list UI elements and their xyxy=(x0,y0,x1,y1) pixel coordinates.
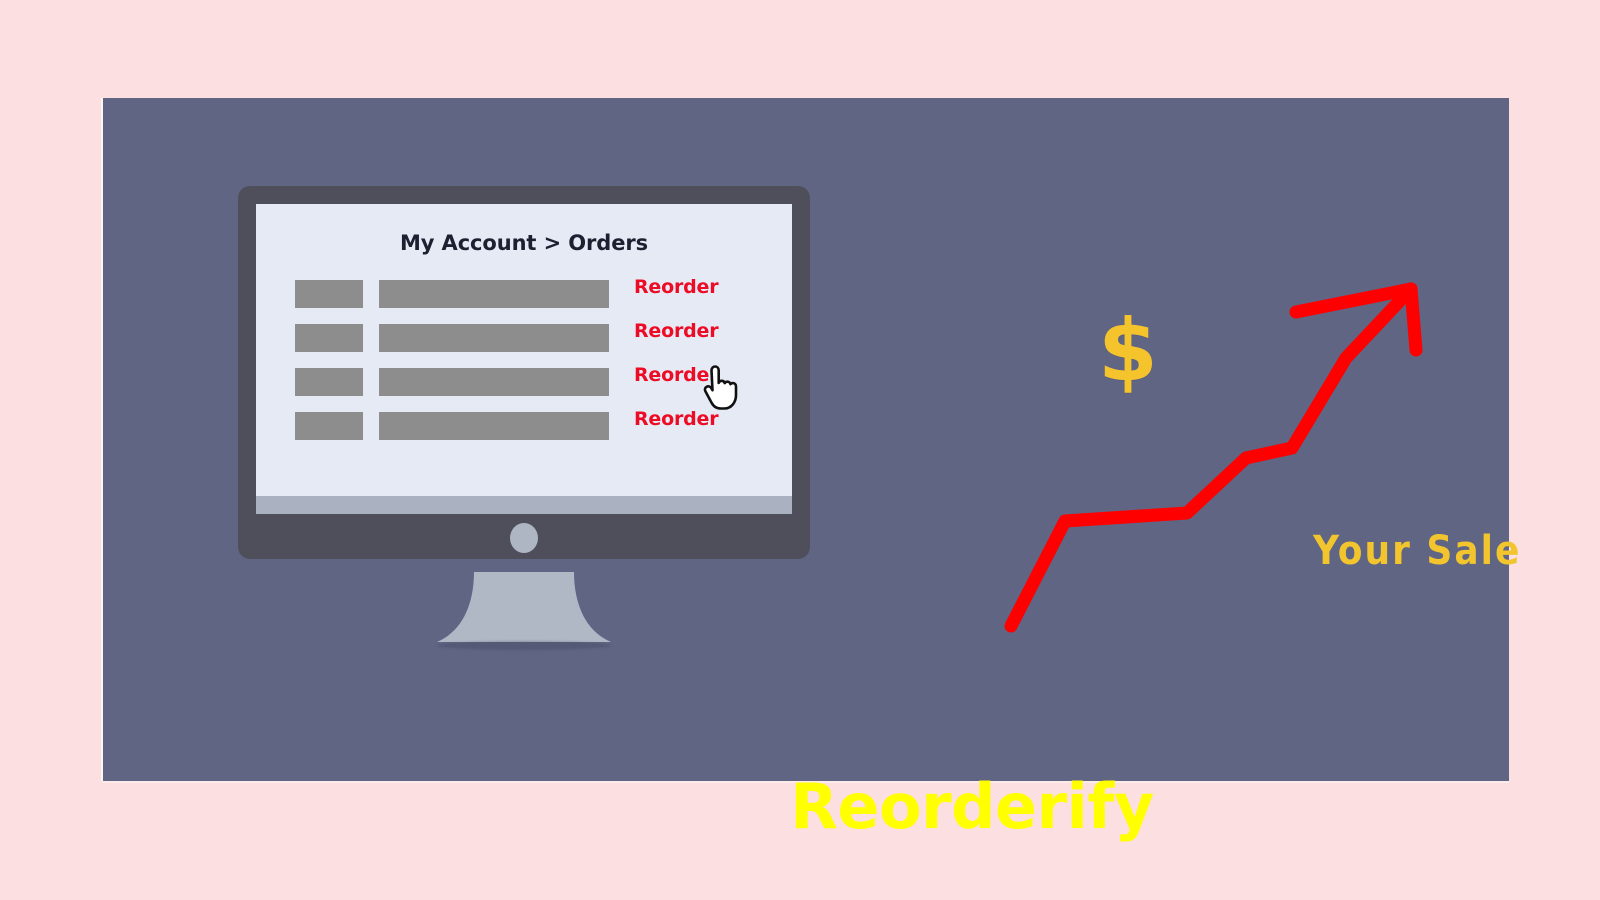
sales-growth-chart: $ Your Sale xyxy=(863,158,1463,658)
page-title: My Account > Orders xyxy=(256,231,792,255)
brand-wordmark: Reorderify xyxy=(103,770,1600,843)
monitor-screen: My Account > Orders Reorder Reorder xyxy=(256,204,792,514)
monitor-stand xyxy=(437,572,611,646)
orders-page: My Account > Orders Reorder Reorder xyxy=(256,204,792,514)
reorder-link[interactable]: Reorder xyxy=(634,320,718,342)
order-id-placeholder xyxy=(295,280,363,308)
order-detail-placeholder xyxy=(379,280,609,308)
your-sale-label: Your Sale xyxy=(1313,528,1521,574)
table-row: Reorder xyxy=(295,408,765,452)
order-detail-placeholder xyxy=(379,368,609,396)
poster-canvas: My Account > Orders Reorder Reorder xyxy=(0,0,1600,900)
order-detail-placeholder xyxy=(379,412,609,440)
monitor-screen-footer-band xyxy=(256,496,792,514)
order-detail-placeholder xyxy=(379,324,609,352)
monitor-power-indicator xyxy=(510,523,538,553)
desktop-monitor-illustration: My Account > Orders Reorder Reorder xyxy=(238,186,810,661)
table-row: Reorder xyxy=(295,364,765,408)
rising-trend-arrow-icon xyxy=(863,158,1463,658)
monitor-stand-shadow xyxy=(437,641,611,650)
dollar-sign-icon: $ xyxy=(1098,308,1158,394)
reorder-link[interactable]: Reorder xyxy=(634,364,718,386)
illustration-panel: My Account > Orders Reorder Reorder xyxy=(103,98,1509,781)
brand-wordmark-text: Reorderify xyxy=(652,770,1154,843)
order-id-placeholder xyxy=(295,368,363,396)
table-row: Reorder xyxy=(295,320,765,364)
order-id-placeholder xyxy=(295,412,363,440)
reorder-link[interactable]: Reorder xyxy=(634,276,718,298)
reorder-link[interactable]: Reorder xyxy=(634,408,718,430)
orders-table: Reorder Reorder Reorder xyxy=(295,276,765,452)
table-row: Reorder xyxy=(295,276,765,320)
order-id-placeholder xyxy=(295,324,363,352)
